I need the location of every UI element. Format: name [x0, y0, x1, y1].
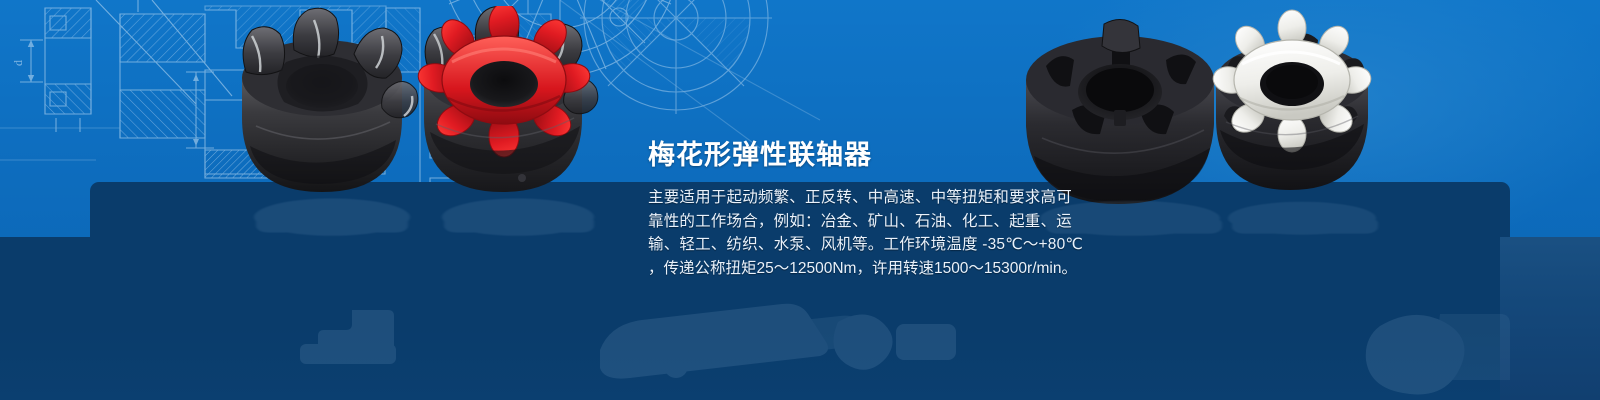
description-line-2: 靠性的工作场合，例如：冶金、矿山、石油、化工、起重、运 [648, 210, 1068, 234]
description-line-4: ，传递公称扭矩25～12500Nm，许用转速1500～15300r/min。 [648, 257, 1068, 281]
right-reflection-strip [1500, 237, 1600, 400]
product-banner: d [0, 0, 1600, 400]
product-description: 主要适用于起动频繁、正反转、中高速、中等扭矩和要求高可 靠性的工作场合，例如：冶… [648, 186, 1068, 280]
description-line-1: 主要适用于起动频繁、正反转、中高速、中等扭矩和要求高可 [648, 186, 1068, 210]
banner-copy: 梅花形弹性联轴器 主要适用于起动频繁、正反转、中高速、中等扭矩和要求高可 靠性的… [648, 138, 1068, 280]
description-line-3: 输、轻工、纺织、水泵、风机等。工作环境温度 -35℃～+80℃ [648, 233, 1068, 257]
page-title: 梅花形弹性联轴器 [648, 138, 1068, 172]
